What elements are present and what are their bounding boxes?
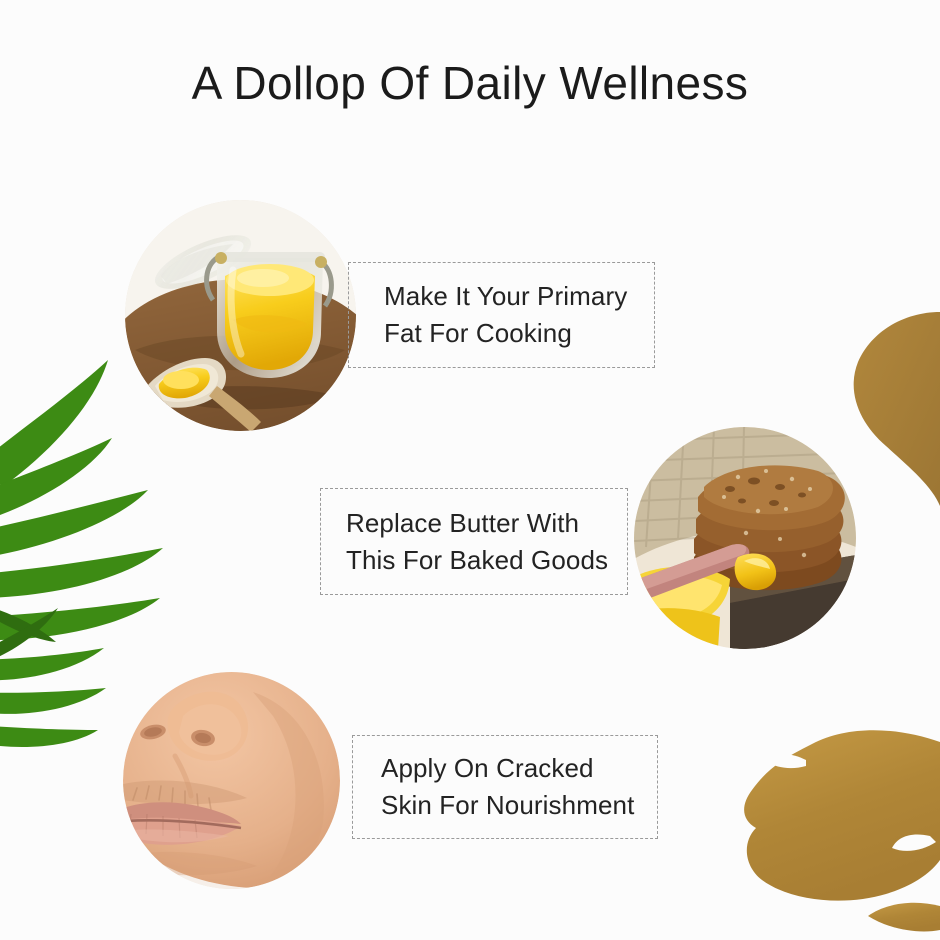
caption-text-replace-butter: Replace Butter With This For Baked Goods	[321, 505, 608, 579]
caption-box-primary-fat: Make It Your Primary Fat For Cooking	[348, 262, 655, 368]
page-title: A Dollop Of Daily Wellness	[0, 58, 940, 109]
gold-brush-swoosh-icon	[744, 730, 940, 931]
palm-leaf-icon	[0, 360, 163, 747]
infographic-poster: A Dollop Of Daily Wellness	[0, 0, 940, 940]
ghee-jar-photo	[125, 200, 356, 431]
gold-brush-stroke-icon	[854, 312, 940, 506]
bread-with-ghee-photo	[634, 427, 856, 649]
caption-text-primary-fat: Make It Your Primary Fat For Cooking	[349, 278, 627, 352]
face-skin-photo	[123, 672, 340, 889]
caption-box-apply-on-skin: Apply On Cracked Skin For Nourishment	[352, 735, 658, 839]
caption-text-apply-on-skin: Apply On Cracked Skin For Nourishment	[353, 750, 634, 824]
caption-box-replace-butter: Replace Butter With This For Baked Goods	[320, 488, 628, 595]
